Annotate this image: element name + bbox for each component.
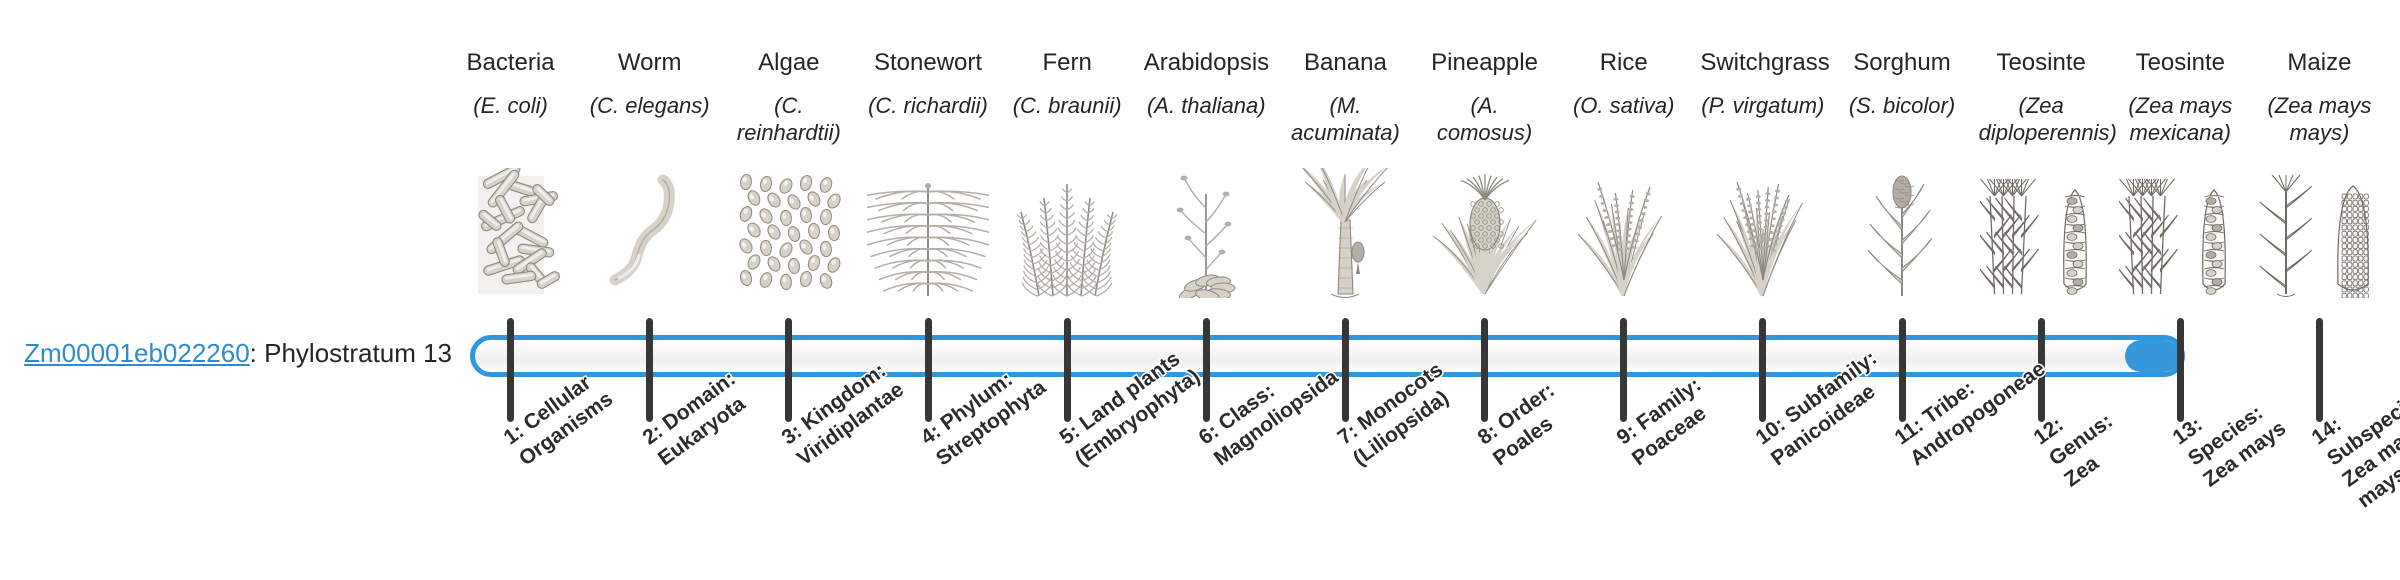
species-common-name: Sorghum <box>1840 48 1965 78</box>
phylostratigraphy-timeline: Zm00001eb022260: Phylostratum 13 Bacteri… <box>0 0 2400 580</box>
tick-stratum-13 <box>2177 318 2184 422</box>
teosinte-plant-ear-icon <box>2119 168 2241 298</box>
tick-stratum-9 <box>1620 318 1627 422</box>
species-column-8: Pineapple(A. comosus) <box>1422 48 1547 146</box>
species-common-name: Algae <box>726 48 851 78</box>
nematode-worm-icon <box>589 168 711 298</box>
gene-phylostratum-label: Zm00001eb022260: Phylostratum 13 <box>0 337 452 369</box>
species-scientific-name: (C. richardii) <box>866 92 991 146</box>
species-column-7: Banana(M. acuminata) <box>1283 48 1408 146</box>
species-scientific-name: (Zea diploperennis) <box>1979 92 2104 146</box>
teosinte-plant-ear-icon <box>1980 168 2102 298</box>
species-column-13: Teosinte(Zea mays mexicana) <box>2118 48 2243 146</box>
species-scientific-name: (A. thaliana) <box>1144 92 1269 146</box>
species-column-5: Fern(C. braunii) <box>1005 48 1130 146</box>
species-common-name: Arabidopsis <box>1144 48 1269 78</box>
species-header-row: Bacteria(E. coli) <box>452 48 2400 308</box>
species-scientific-name: (M. acuminata) <box>1283 92 1408 146</box>
species-scientific-name: (C. elegans) <box>587 92 712 146</box>
species-scientific-name: (A. comosus) <box>1422 92 1547 146</box>
rice-grass-icon <box>1563 168 1685 298</box>
arabidopsis-plant-icon <box>1145 168 1267 298</box>
tick-stratum-10 <box>1759 318 1766 422</box>
gene-label-separator: : <box>250 338 264 368</box>
species-column-4: Stonewort(C. richardii) <box>866 48 991 146</box>
tick-stratum-5 <box>1064 318 1071 422</box>
species-scientific-name: (Zea mays mays) <box>2257 92 2382 146</box>
species-column-9: Rice(O. sativa) <box>1561 48 1686 146</box>
tick-stratum-1 <box>507 318 514 422</box>
species-common-name: Bacteria <box>448 48 573 78</box>
tick-stratum-7 <box>1342 318 1349 422</box>
species-scientific-name: (S. bicolor) <box>1840 92 1965 146</box>
tick-stratum-14 <box>2316 318 2323 422</box>
tick-stratum-3 <box>785 318 792 422</box>
algae-cells-icon <box>728 168 850 298</box>
tick-stratum-2 <box>646 318 653 422</box>
species-column-12: Teosinte(Zea diploperennis) <box>1979 48 2104 146</box>
species-column-10: Switchgrass(P. virgatum) <box>1700 48 1825 146</box>
species-column-2: Worm(C. elegans) <box>587 48 712 146</box>
phylostratum-labels: 1: Cellular Organisms2: Domain: Eukaryot… <box>452 424 2400 580</box>
species-scientific-name: (Zea mays mexicana) <box>2118 92 2243 146</box>
species-column-6: Arabidopsis(A. thaliana) <box>1144 48 1269 146</box>
phylostratum-value-text: Phylostratum 13 <box>264 338 452 368</box>
sorghum-plant-icon <box>1841 168 1963 298</box>
species-column-14: Maize(Zea mays mays) <box>2257 48 2382 146</box>
tick-stratum-4 <box>925 318 932 422</box>
species-scientific-name: (E. coli) <box>448 92 573 146</box>
pineapple-plant-icon <box>1424 168 1546 298</box>
gene-id-link[interactable]: Zm00001eb022260 <box>24 338 250 368</box>
fern-frond-icon <box>1006 168 1128 298</box>
species-common-name: Stonewort <box>866 48 991 78</box>
species-common-name: Worm <box>587 48 712 78</box>
tick-stratum-8 <box>1481 318 1488 422</box>
species-common-name: Teosinte <box>2118 48 2243 78</box>
species-column-1: Bacteria(E. coli) <box>448 48 573 146</box>
species-column-11: Sorghum(S. bicolor) <box>1840 48 1965 146</box>
species-scientific-name: (C. braunii) <box>1005 92 1130 146</box>
species-common-name: Rice <box>1561 48 1686 78</box>
tick-stratum-11 <box>1899 318 1906 422</box>
species-common-name: Switchgrass <box>1700 48 1825 78</box>
species-common-name: Pineapple <box>1422 48 1547 78</box>
species-common-name: Maize <box>2257 48 2382 78</box>
banana-tree-icon <box>1284 168 1406 298</box>
bacteria-rods-icon <box>450 168 572 298</box>
switchgrass-icon <box>1702 168 1824 298</box>
species-scientific-name: (C. reinhardtii) <box>726 92 851 146</box>
species-common-name: Banana <box>1283 48 1408 78</box>
stonewort-plant-icon <box>867 168 989 298</box>
maize-plant-ear-icon <box>2258 168 2380 298</box>
species-scientific-name: (P. virgatum) <box>1700 92 1825 146</box>
species-common-name: Teosinte <box>1979 48 2104 78</box>
species-column-3: Algae(C. reinhardtii) <box>726 48 851 146</box>
tick-stratum-6 <box>1203 318 1210 422</box>
species-common-name: Fern <box>1005 48 1130 78</box>
species-scientific-name: (O. sativa) <box>1561 92 1686 146</box>
